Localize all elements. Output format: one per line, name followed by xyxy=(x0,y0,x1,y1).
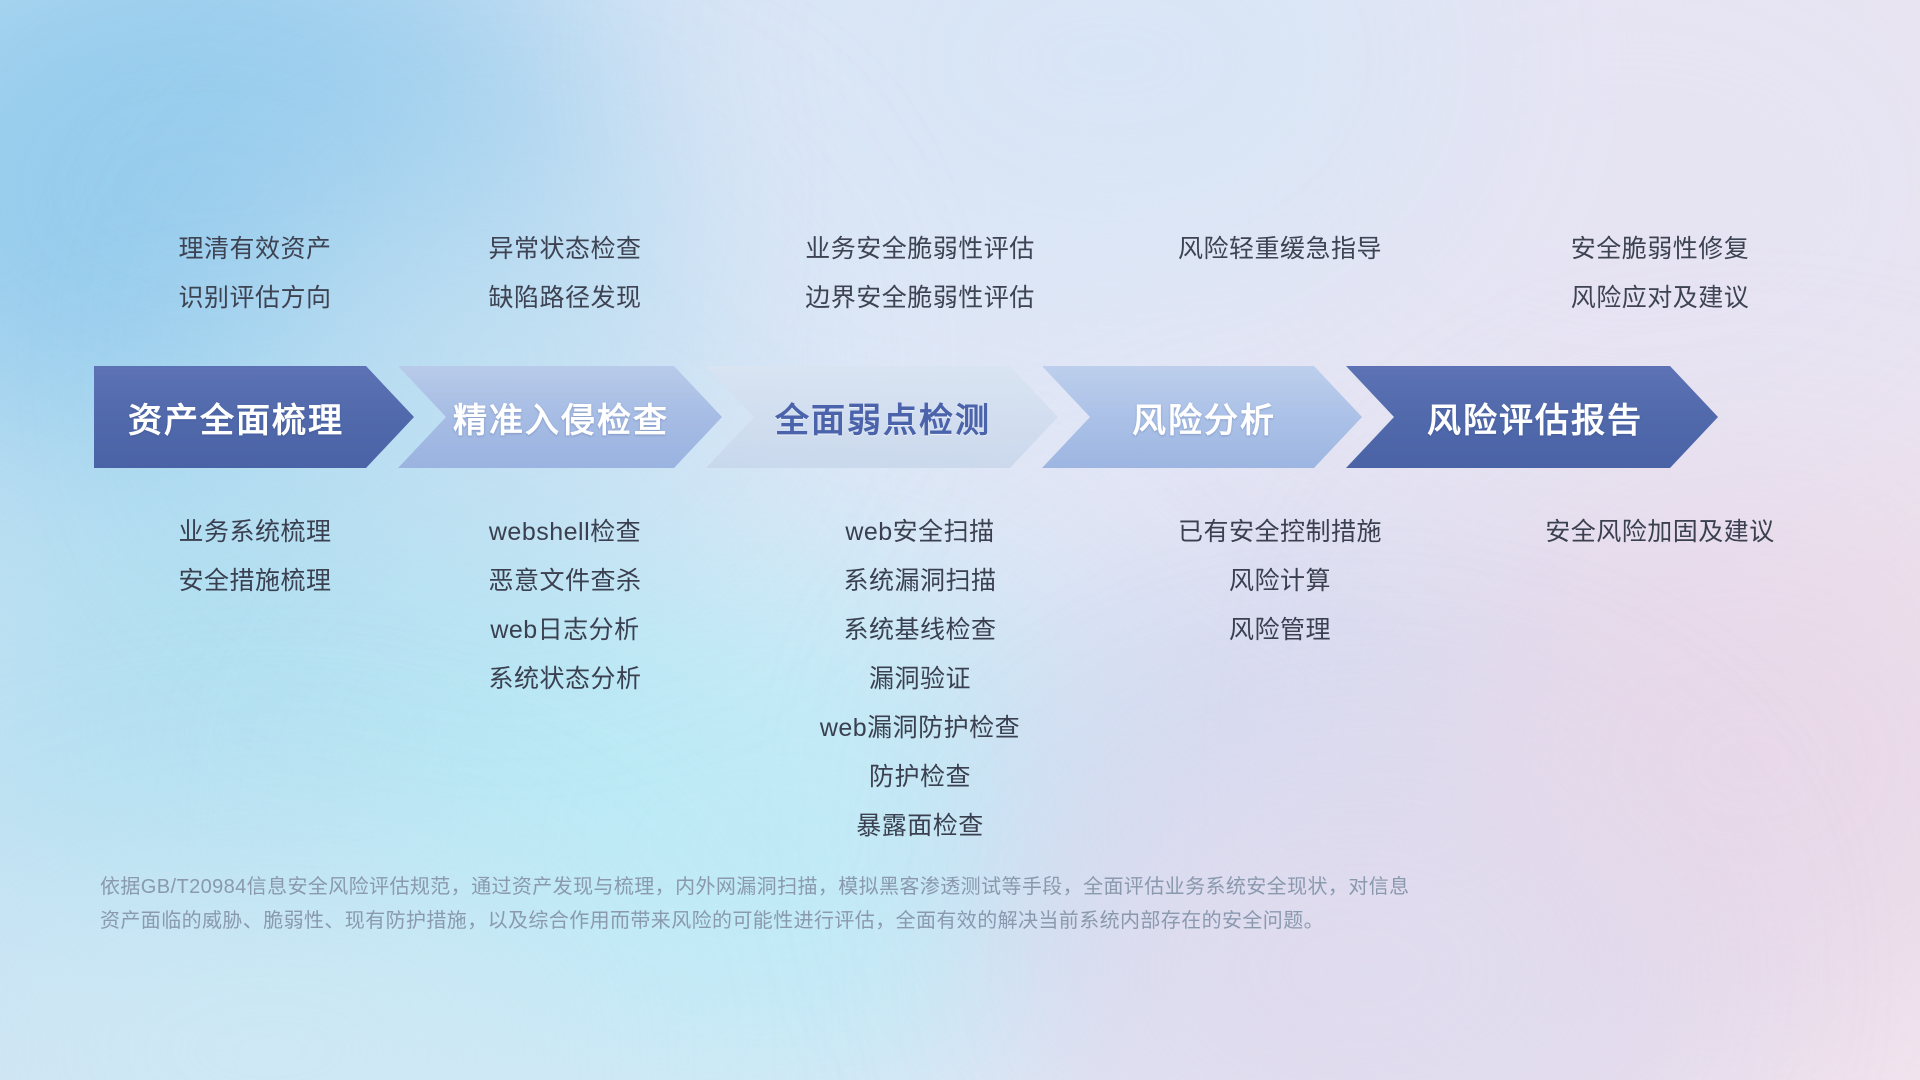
bottom-item: 风险计算 xyxy=(1060,557,1500,606)
process-step-risk-analysis[interactable]: 风险分析 xyxy=(1042,366,1362,468)
step-top-items-risk-analysis: 风险轻重缓急指导 xyxy=(1060,225,1500,274)
process-step-asset-inventory[interactable]: 资产全面梳理 xyxy=(94,366,414,468)
step-bottom-items-risk-analysis: 已有安全控制措施 风险计算 风险管理 xyxy=(1060,508,1500,655)
process-diagram: 理清有效资产 识别评估方向 异常状态检查 缺陷路径发现 业务安全脆弱性评估 边界… xyxy=(0,0,1920,1080)
bottom-item: 已有安全控制措施 xyxy=(1060,508,1500,557)
bottom-item: 暴露面检查 xyxy=(700,802,1140,851)
bottom-item: 安全风险加固及建议 xyxy=(1440,508,1880,557)
bottom-item: 漏洞验证 xyxy=(700,655,1140,704)
process-step-label: 全面弱点检测 xyxy=(706,393,1058,442)
footer-line: 依据GB/T20984信息安全风险评估规范，通过资产发现与梳理，内外网漏洞扫描，… xyxy=(100,870,1660,904)
process-step-label: 风险评估报告 xyxy=(1346,393,1718,442)
process-step-label: 精准入侵检查 xyxy=(398,393,722,442)
footer-description: 依据GB/T20984信息安全风险评估规范，通过资产发现与梳理，内外网漏洞扫描，… xyxy=(100,870,1660,938)
process-step-weakness-detection[interactable]: 全面弱点检测 xyxy=(706,366,1058,468)
top-item: 风险轻重缓急指导 xyxy=(1060,225,1500,274)
process-step-intrusion-check[interactable]: 精准入侵检查 xyxy=(398,366,722,468)
step-top-items-risk-report: 安全脆弱性修复 风险应对及建议 xyxy=(1440,225,1880,323)
step-bottom-items-risk-report: 安全风险加固及建议 xyxy=(1440,508,1880,557)
footer-line: 资产面临的威胁、脆弱性、现有防护措施，以及综合作用而带来风险的可能性进行评估，全… xyxy=(100,904,1660,938)
top-item: 风险应对及建议 xyxy=(1440,274,1880,323)
bottom-item: 风险管理 xyxy=(1060,606,1500,655)
process-step-label: 资产全面梳理 xyxy=(94,393,414,442)
bottom-item: web漏洞防护检查 xyxy=(700,704,1140,753)
process-step-label: 风险分析 xyxy=(1042,393,1362,442)
process-step-band: 资产全面梳理 精准入侵检查 xyxy=(0,366,1920,468)
process-step-risk-report[interactable]: 风险评估报告 xyxy=(1346,366,1718,468)
top-item: 边界安全脆弱性评估 xyxy=(700,274,1140,323)
top-item: 安全脆弱性修复 xyxy=(1440,225,1880,274)
bottom-item: 防护检查 xyxy=(700,753,1140,802)
